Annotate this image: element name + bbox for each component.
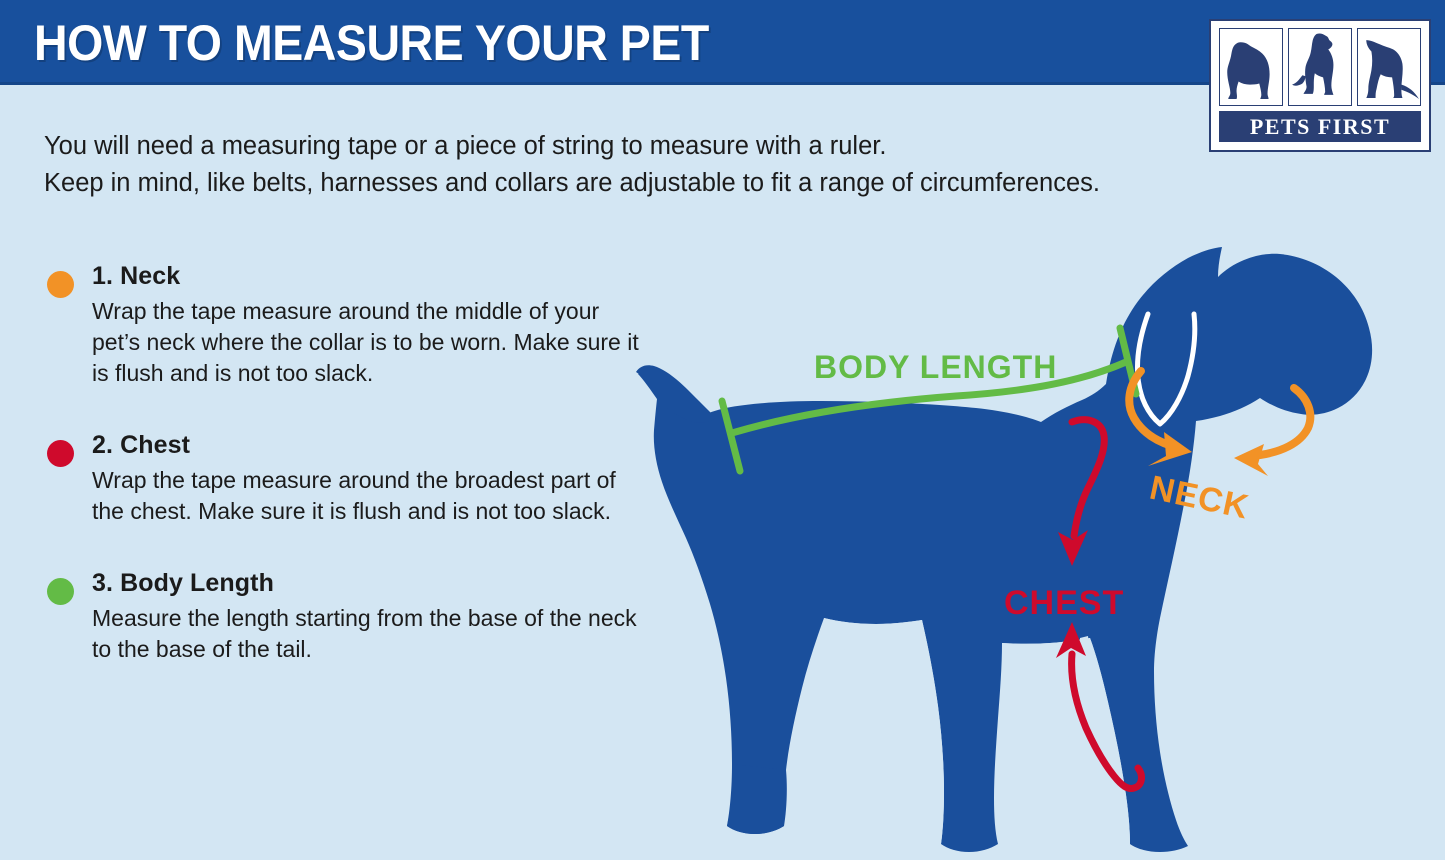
- step-title-neck: 1. Neck: [92, 262, 640, 291]
- label-chest: CHEST: [1004, 584, 1124, 622]
- page-title: HOW TO MEASURE YOUR PET: [34, 14, 709, 72]
- intro-paragraph: You will need a measuring tape or a piec…: [44, 128, 1294, 202]
- label-body-length: BODY LENGTH: [814, 349, 1057, 385]
- step-item-chest: 2. Chest Wrap the tape measure around th…: [40, 431, 640, 527]
- bullet-chest-icon: [47, 440, 74, 467]
- dog-shepherd-icon: [1357, 28, 1421, 106]
- step-title-chest: 2. Chest: [92, 431, 640, 460]
- step-item-neck: 1. Neck Wrap the tape measure around the…: [40, 262, 640, 389]
- step-body-chest: Wrap the tape measure around the broades…: [92, 465, 652, 527]
- intro-line-1: You will need a measuring tape or a piec…: [44, 128, 1294, 165]
- intro-line-2: Keep in mind, like belts, harnesses and …: [44, 165, 1294, 202]
- measurement-steps-list: 1. Neck Wrap the tape measure around the…: [40, 262, 640, 707]
- step-title-body-length: 3. Body Length: [92, 569, 640, 598]
- dog-silhouette-icon: [636, 247, 1372, 852]
- logo-icon-row: [1219, 28, 1421, 106]
- step-body-body-length: Measure the length starting from the bas…: [92, 603, 652, 665]
- step-item-body-length: 3. Body Length Measure the length starti…: [40, 569, 640, 665]
- step-body-neck: Wrap the tape measure around the middle …: [92, 296, 652, 389]
- dog-measurement-diagram: BODY LENGTH NECK CHEST: [636, 236, 1445, 860]
- bullet-neck-icon: [47, 271, 74, 298]
- dog-howling-icon: [1288, 28, 1352, 106]
- bullet-body-length-icon: [47, 578, 74, 605]
- dog-sitting-icon: [1219, 28, 1283, 106]
